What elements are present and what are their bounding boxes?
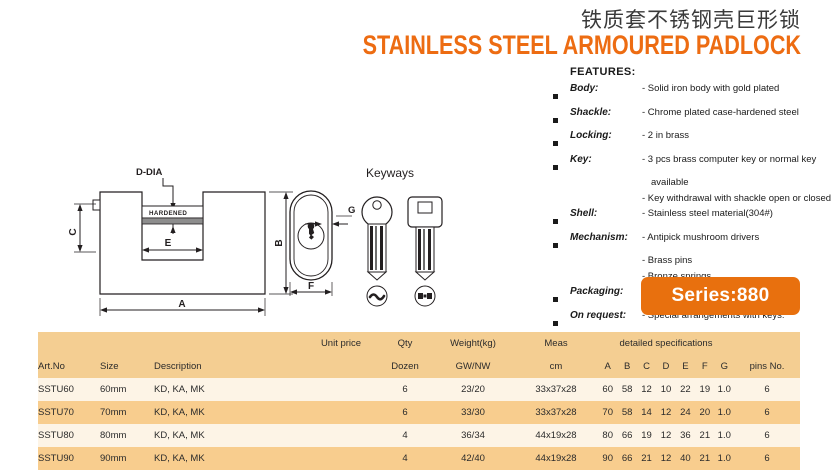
label-a: A <box>178 299 185 310</box>
cell-f: 21 <box>695 424 714 447</box>
page-header: 铁质套不锈钢壳巨形锁 STAINLESS STEEL ARMOURED PADL… <box>0 0 839 66</box>
feature-value: - 2 in brass <box>642 129 839 142</box>
cell-c: 19 <box>637 424 656 447</box>
cell-f: 21 <box>695 447 714 470</box>
key-profile-normal <box>367 286 387 306</box>
th-description: Description <box>154 355 304 378</box>
computer-key <box>408 197 442 280</box>
feature-bullet-cell <box>553 153 570 175</box>
cell-size: 90mm <box>100 447 154 470</box>
feature-row-continued: - Key withdrawal with shackle open or cl… <box>553 192 839 206</box>
square-bullet-icon <box>553 165 558 170</box>
feature-label: Shell: <box>570 207 642 220</box>
label-c: C <box>68 228 79 235</box>
feature-bullet-cell <box>553 106 570 128</box>
cell-qty: 6 <box>378 378 432 401</box>
cell-meas: 33x37x28 <box>514 378 598 401</box>
feature-label: Key: <box>570 153 642 166</box>
feature-row: Body:- Solid iron body with gold plated <box>553 82 839 104</box>
hardened-bar-shadow <box>142 218 203 224</box>
cell-description: KD, KA, MK <box>154 447 304 470</box>
table-row: SSTU8080mmKD, KA, MK436/3444x19x28806619… <box>38 424 800 447</box>
cell-pins: 6 <box>734 378 800 401</box>
th-spec-f: F <box>695 355 714 378</box>
cell-d: 12 <box>656 401 675 424</box>
label-d-dia: D-DIA <box>136 167 163 178</box>
th-qty: Qty <box>378 332 432 355</box>
label-e: E <box>165 238 172 249</box>
feature-value: - Brass pins <box>642 254 839 267</box>
series-badge: Series:880 <box>641 277 800 315</box>
th-size-top <box>100 332 154 355</box>
feature-label: Mechanism: <box>570 231 642 244</box>
cell-a: 60 <box>598 378 617 401</box>
feature-label: Packaging: <box>570 285 642 298</box>
cell-size: 80mm <box>100 424 154 447</box>
keyways-diagram: Keyways <box>362 166 442 306</box>
th-description-top <box>154 332 304 355</box>
feature-bullet-cell <box>553 192 570 196</box>
cell-b: 66 <box>617 424 636 447</box>
feature-label: Shackle: <box>570 106 642 119</box>
cell-size: 70mm <box>100 401 154 424</box>
feature-value: - Solid iron body with gold plated <box>642 82 839 95</box>
table-header-row-top: Unit price Qty Weight(kg) Meas detailed … <box>38 332 800 355</box>
feature-value: - 3 pcs brass computer key or normal key <box>642 153 839 166</box>
th-weight: Weight(kg) <box>432 332 514 355</box>
cell-g: 1.0 <box>715 447 734 470</box>
cell-b: 66 <box>617 447 636 470</box>
cell-d: 10 <box>656 378 675 401</box>
cell-art-no: SSTU70 <box>38 401 100 424</box>
cell-d: 12 <box>656 424 675 447</box>
padlock-diagram-svg: D-DIA HARDENED E C B <box>60 160 520 320</box>
square-bullet-icon <box>553 118 558 123</box>
feature-bullet-cell <box>553 309 570 331</box>
key-profile-computer <box>415 286 435 306</box>
th-weight-gwnw: GW/NW <box>432 355 514 378</box>
table-row: SSTU9090mmKD, KA, MK442/4044x19x28906621… <box>38 447 800 470</box>
cell-pins: 6 <box>734 447 800 470</box>
cell-e: 22 <box>676 378 695 401</box>
square-bullet-icon <box>553 297 558 302</box>
cell-g: 1.0 <box>715 424 734 447</box>
feature-bullet-cell <box>553 231 570 253</box>
keyways-title: Keyways <box>366 166 414 180</box>
feature-value: - Key withdrawal with shackle open or cl… <box>642 192 839 205</box>
cell-a: 70 <box>598 401 617 424</box>
square-bullet-icon <box>553 243 558 248</box>
feature-label: Body: <box>570 82 642 95</box>
table-head: Unit price Qty Weight(kg) Meas detailed … <box>38 332 800 378</box>
th-meas: Meas <box>514 332 598 355</box>
cell-qty: 4 <box>378 424 432 447</box>
cell-art-no: SSTU80 <box>38 424 100 447</box>
cell-qty: 6 <box>378 401 432 424</box>
th-detailed-specifications: detailed specifications <box>598 332 734 355</box>
cell-unit-price <box>304 378 378 401</box>
th-unit-price: Unit price <box>304 332 378 355</box>
technical-drawing: D-DIA HARDENED E C B <box>60 160 520 320</box>
cell-qty: 4 <box>378 447 432 470</box>
feature-bullet-cell <box>553 129 570 151</box>
cell-f: 20 <box>695 401 714 424</box>
feature-row: Shell:- Stainless steel material(304#) <box>553 207 839 229</box>
square-bullet-icon <box>553 141 558 146</box>
cell-description: KD, KA, MK <box>154 424 304 447</box>
cell-g: 1.0 <box>715 378 734 401</box>
square-bullet-icon <box>553 321 558 326</box>
cell-g: 1.0 <box>715 401 734 424</box>
cell-d: 12 <box>656 447 675 470</box>
padlock-left-nub <box>93 200 100 210</box>
specifications-table: Unit price Qty Weight(kg) Meas detailed … <box>38 332 800 470</box>
cell-description: KD, KA, MK <box>154 401 304 424</box>
feature-bullet-cell <box>553 82 570 104</box>
feature-bullet-cell <box>553 270 570 274</box>
feature-row: Shackle:- Chrome plated case-hardened st… <box>553 106 839 128</box>
cell-e: 40 <box>676 447 695 470</box>
cell-art-no: SSTU60 <box>38 378 100 401</box>
cell-size: 60mm <box>100 378 154 401</box>
th-spec-d: D <box>656 355 675 378</box>
cell-unit-price <box>304 401 378 424</box>
th-spec-e: E <box>676 355 695 378</box>
cell-weight: 36/34 <box>432 424 514 447</box>
feature-row-continued: available <box>553 176 839 190</box>
feature-row: Mechanism:- Antipick mushroom drivers <box>553 231 839 253</box>
cell-e: 36 <box>676 424 695 447</box>
feature-bullet-cell <box>553 176 570 180</box>
cell-meas: 44x19x28 <box>514 424 598 447</box>
label-hardened: HARDENED <box>149 210 187 217</box>
table-row: SSTU7070mmKD, KA, MK633/3033x37x28705814… <box>38 401 800 424</box>
feature-bullet-cell <box>553 254 570 258</box>
cell-weight: 23/20 <box>432 378 514 401</box>
cell-meas: 33x37x28 <box>514 401 598 424</box>
th-qty-dozen: Dozen <box>378 355 432 378</box>
feature-bullet-cell <box>553 207 570 229</box>
feature-row: Locking:- 2 in brass <box>553 129 839 151</box>
table-body: SSTU6060mmKD, KA, MK623/2033x37x28605812… <box>38 378 800 470</box>
cell-e: 24 <box>676 401 695 424</box>
feature-value: - Stainless steel material(304#) <box>642 207 839 220</box>
th-art-no: Art.No <box>38 355 100 378</box>
cell-c: 12 <box>637 378 656 401</box>
th-meas-cm: cm <box>514 355 598 378</box>
th-pins-top <box>734 332 800 355</box>
label-f: F <box>308 281 314 292</box>
feature-value: available <box>642 176 839 189</box>
feature-row-continued: - Brass pins <box>553 254 839 268</box>
series-badge-label: Series:880 <box>671 285 769 307</box>
cell-unit-price <box>304 447 378 470</box>
cell-art-no: SSTU90 <box>38 447 100 470</box>
cell-weight: 42/40 <box>432 447 514 470</box>
square-bullet-icon <box>553 219 558 224</box>
feature-label: On request: <box>570 309 642 322</box>
cell-f: 19 <box>695 378 714 401</box>
cell-a: 80 <box>598 424 617 447</box>
cell-weight: 33/30 <box>432 401 514 424</box>
cell-b: 58 <box>617 378 636 401</box>
th-art-no-top <box>38 332 100 355</box>
label-g: G <box>348 205 355 216</box>
th-pins-no: pins No. <box>734 355 800 378</box>
th-spec-a: A <box>598 355 617 378</box>
cell-b: 58 <box>617 401 636 424</box>
table-row: SSTU6060mmKD, KA, MK623/2033x37x28605812… <box>38 378 800 401</box>
th-spec-b: B <box>617 355 636 378</box>
cell-unit-price <box>304 424 378 447</box>
cell-meas: 44x19x28 <box>514 447 598 470</box>
cell-a: 90 <box>598 447 617 470</box>
th-spec-c: C <box>637 355 656 378</box>
feature-value: - Chrome plated case-hardened steel <box>642 106 839 119</box>
th-unit-price-sub <box>304 355 378 378</box>
cell-c: 14 <box>637 401 656 424</box>
cell-c: 21 <box>637 447 656 470</box>
cell-pins: 6 <box>734 424 800 447</box>
cell-description: KD, KA, MK <box>154 378 304 401</box>
table-header-row-bottom: Art.No Size Description Dozen GW/NW cm A… <box>38 355 800 378</box>
cell-pins: 6 <box>734 401 800 424</box>
normal-key <box>362 197 392 280</box>
features-heading: FEATURES: <box>570 66 839 78</box>
label-b: B <box>274 239 285 246</box>
feature-label: Locking: <box>570 129 642 142</box>
feature-value: - Antipick mushroom drivers <box>642 231 839 244</box>
feature-bullet-cell <box>553 285 570 307</box>
feature-row: Key:- 3 pcs brass computer key or normal… <box>553 153 839 175</box>
th-size: Size <box>100 355 154 378</box>
keyhole-face-diagram: G F <box>290 191 355 296</box>
english-title: STAINLESS STEEL ARMOURED PADLOCK <box>363 30 801 61</box>
square-bullet-icon <box>553 94 558 99</box>
th-spec-g: G <box>715 355 734 378</box>
